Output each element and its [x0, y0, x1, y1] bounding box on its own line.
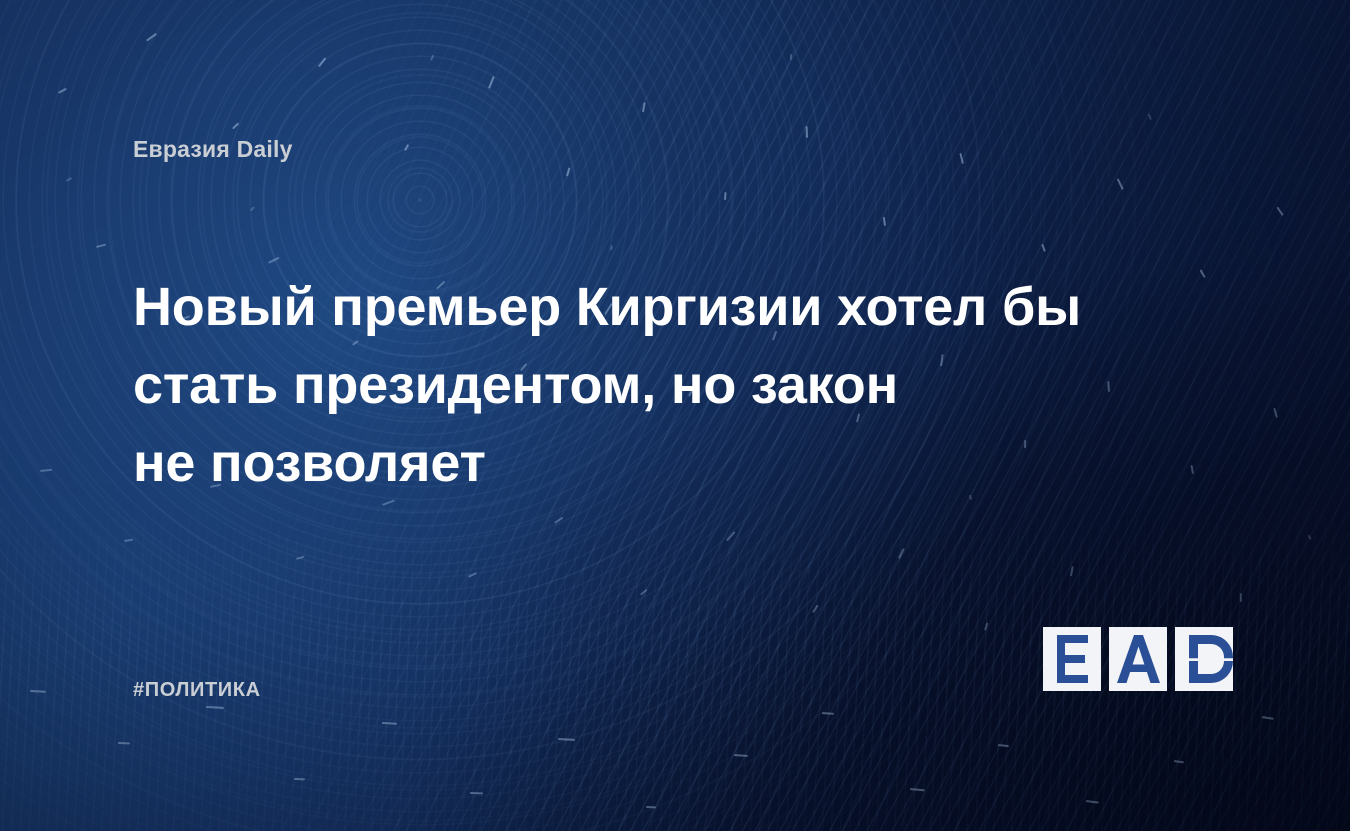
- site-name: Евразия Daily: [133, 136, 293, 163]
- category-hashtag[interactable]: #ПОЛИТИКА: [133, 679, 261, 702]
- headline-line-1: Новый премьер Киргизии хотел бы: [133, 268, 1133, 346]
- headline-line-3: не позволяет: [133, 424, 1133, 502]
- news-card: Евразия Daily Новый премьер Киргизии хот…: [0, 0, 1350, 831]
- logo-tile-e: [1043, 627, 1101, 691]
- eadaily-logo[interactable]: [1043, 627, 1233, 691]
- headline: Новый премьер Киргизии хотел бы стать пр…: [133, 268, 1133, 502]
- letter-e-icon: [1043, 627, 1101, 691]
- logo-tile-a: [1109, 627, 1167, 691]
- logo-tile-d: [1175, 627, 1233, 691]
- headline-line-2: стать президентом, но закон: [133, 346, 1133, 424]
- letter-d-split-icon: [1175, 627, 1253, 691]
- letter-a-icon: [1109, 627, 1167, 691]
